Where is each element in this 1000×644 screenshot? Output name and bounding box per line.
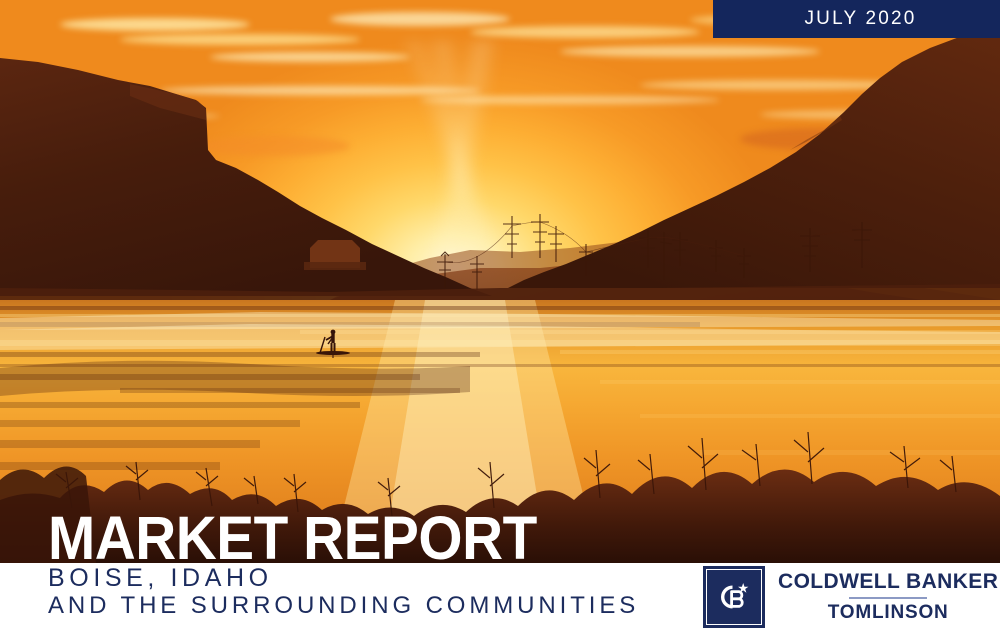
- subtitle-location: BOISE, IDAHO: [48, 564, 639, 592]
- logo-divider-rule: [849, 597, 927, 599]
- date-banner: JULY 2020: [713, 0, 1000, 38]
- market-report-cover: JULY 2020 MARKET REPORT BOISE, IDAHO AND…: [0, 0, 1000, 644]
- cb-monogram-icon: [703, 566, 765, 628]
- logo-affiliate-line: TOMLINSON: [828, 602, 949, 624]
- landscape-silhouettes: [0, 0, 1000, 563]
- coldwell-banker-logo: COLDWELL BANKER TOMLINSON: [703, 566, 998, 628]
- logo-wordmark: COLDWELL BANKER TOMLINSON: [778, 570, 998, 624]
- date-text: JULY 2020: [796, 8, 916, 30]
- paddleboarder-silhouette: [310, 326, 356, 358]
- cover-photo: [0, 0, 1000, 563]
- logo-brand-line: COLDWELL BANKER: [778, 570, 998, 594]
- subtitle-block: BOISE, IDAHO AND THE SURROUNDING COMMUNI…: [48, 564, 639, 620]
- subtitle-scope: AND THE SURROUNDING COMMUNITIES: [48, 592, 639, 620]
- page-title: MARKET REPORT: [48, 508, 537, 569]
